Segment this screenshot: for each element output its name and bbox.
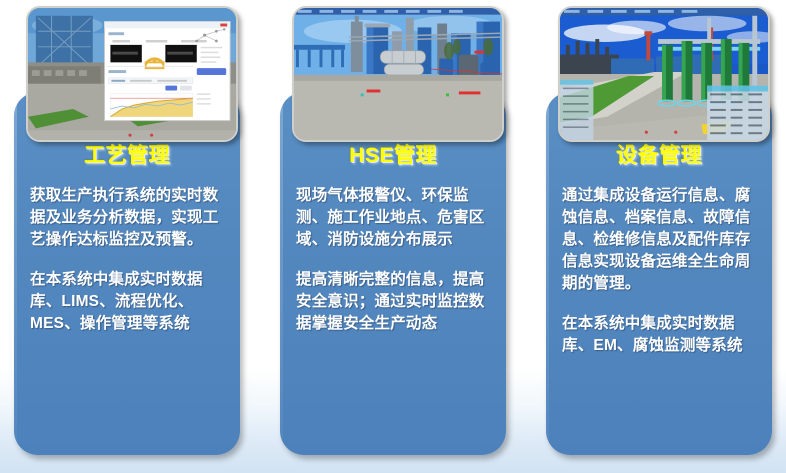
card-paragraph-2: 在本系统中集成实时数据库、LIMS、流程优化、MES、操作管理等系统 <box>30 269 224 335</box>
feature-card-row: 工艺管理 获取生产执行系统的实时数据及业务分析数据，实现工艺操作达标监控及预警。… <box>0 0 786 473</box>
card-paragraph-1: 现场气体报警仪、环保监测、施工作业地点、危害区域、消防设施分布展示 <box>296 185 490 251</box>
process-dashboard-screenshot[interactable] <box>26 6 238 142</box>
card-content: HSE管理 现场气体报警仪、环保监测、施工作业地点、危害区域、消防设施分布展示 … <box>280 144 506 335</box>
equipment-3d-thumbnail-art <box>560 8 768 140</box>
card-content: 工艺管理 获取生产执行系统的实时数据及业务分析数据，实现工艺操作达标监控及预警。… <box>14 144 240 335</box>
plant-3d-thumbnail-art <box>294 8 502 140</box>
card-title-equipment-management: 设备管理 <box>562 144 756 167</box>
card-panel: HSE管理 现场气体报警仪、环保监测、施工作业地点、危害区域、消防设施分布展示 … <box>280 92 506 455</box>
card-paragraph-1: 获取生产执行系统的实时数据及业务分析数据，实现工艺操作达标监控及预警。 <box>30 185 224 251</box>
card-paragraph-2: 提高清晰完整的信息，提高安全意识；通过实时监控数据掌握安全生产动态 <box>296 269 490 335</box>
card-title-process-management: 工艺管理 <box>30 144 224 167</box>
card-panel: 工艺管理 获取生产执行系统的实时数据及业务分析数据，实现工艺操作达标监控及预警。… <box>14 92 240 455</box>
slide-canvas: 工艺管理 获取生产执行系统的实时数据及业务分析数据，实现工艺操作达标监控及预警。… <box>0 0 786 473</box>
dashboard-thumbnail-art <box>28 8 236 140</box>
feature-card-hse-management[interactable]: HSE管理 现场气体报警仪、环保监测、施工作业地点、危害区域、消防设施分布展示 … <box>280 0 506 473</box>
equipment-3d-view-screenshot[interactable] <box>558 6 770 142</box>
feature-card-process-management[interactable]: 工艺管理 获取生产执行系统的实时数据及业务分析数据，实现工艺操作达标监控及预警。… <box>14 0 240 473</box>
card-paragraph-1: 通过集成设备运行信息、腐蚀信息、档案信息、故障信息、检维修信息及配件库存信息实现… <box>562 185 756 295</box>
card-paragraph-2: 在本系统中集成实时数据库、EM、腐蚀监测等系统 <box>562 313 756 357</box>
plant-3d-view-screenshot[interactable] <box>292 6 504 142</box>
feature-card-equipment-management[interactable]: 设备管理 通过集成设备运行信息、腐蚀信息、档案信息、故障信息、检维修信息及配件库… <box>546 0 772 473</box>
card-panel: 设备管理 通过集成设备运行信息、腐蚀信息、档案信息、故障信息、检维修信息及配件库… <box>546 92 772 455</box>
card-content: 设备管理 通过集成设备运行信息、腐蚀信息、档案信息、故障信息、检维修信息及配件库… <box>546 144 772 357</box>
card-title-hse-management: HSE管理 <box>296 144 490 167</box>
